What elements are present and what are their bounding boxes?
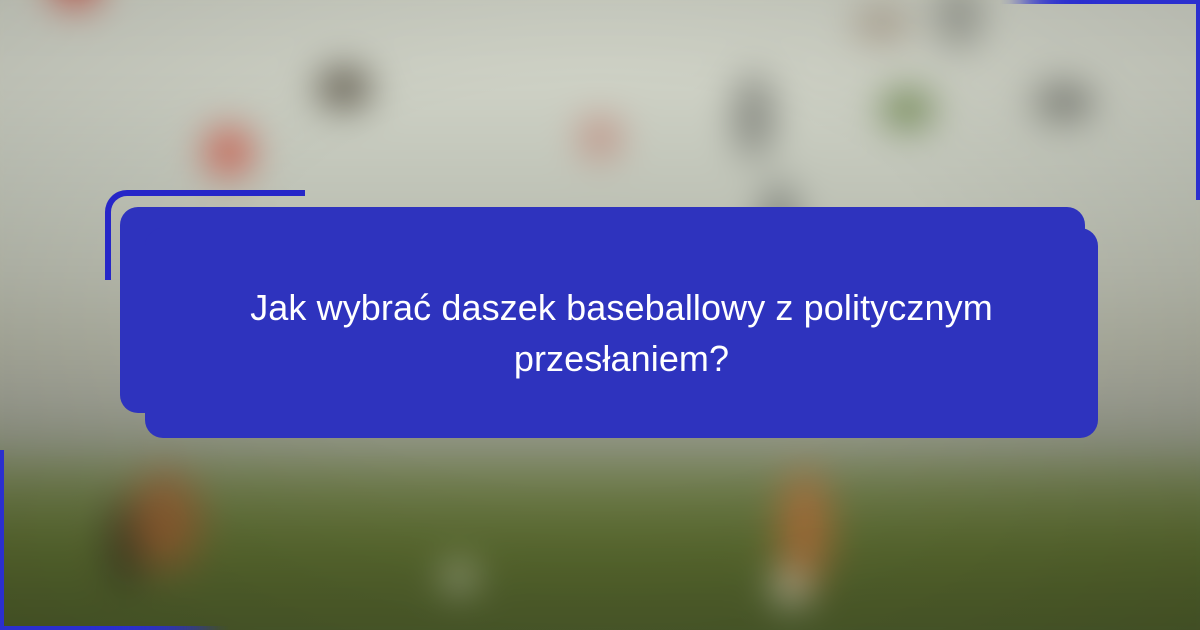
headline-container: Jak wybrać daszek baseballowy z politycz… <box>145 228 1098 438</box>
page-title: Jak wybrać daszek baseballowy z politycz… <box>232 282 1012 384</box>
social-card-canvas: Jak wybrać daszek baseballowy z politycz… <box>0 0 1200 630</box>
